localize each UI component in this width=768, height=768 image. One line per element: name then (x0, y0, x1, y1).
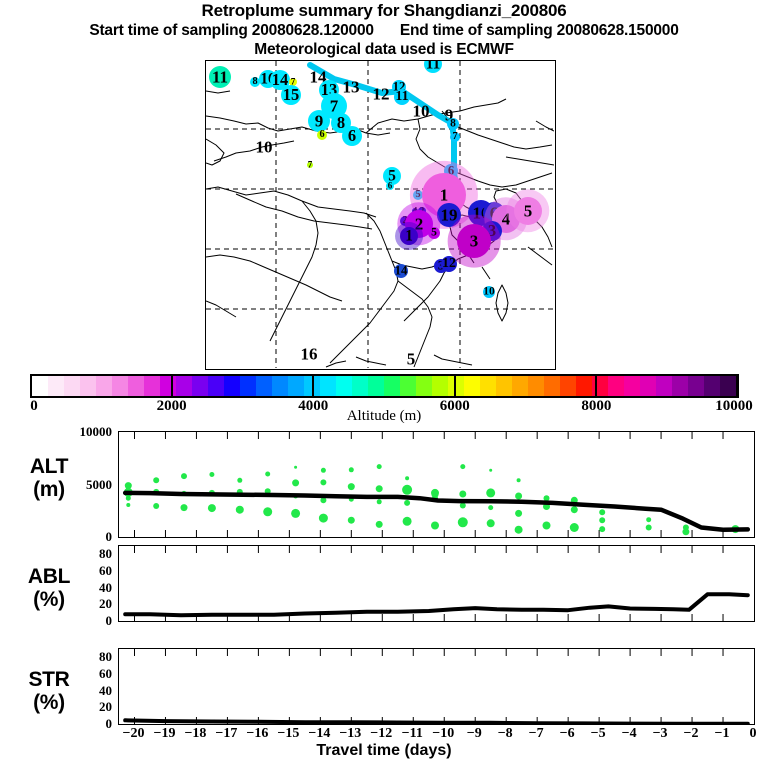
colorbar-swatch (176, 376, 192, 396)
colorbar-swatch (592, 376, 608, 396)
y-tick-label: 10000 (46, 424, 112, 440)
colorbar-swatch (464, 376, 480, 396)
x-tick-label: −5 (591, 726, 606, 742)
alt-scatter-point (320, 479, 326, 485)
alt-scatter-point (486, 488, 495, 497)
x-tick-label: −11 (402, 726, 423, 742)
y-tick-label: 60 (46, 666, 112, 682)
y-tick-label: 80 (46, 649, 112, 665)
colorbar-swatch (48, 376, 64, 396)
colorbar-swatch (656, 376, 672, 396)
colorbar-swatch (240, 376, 256, 396)
map-marker-label: 6 (319, 130, 324, 140)
map-marker-label: 3 (470, 233, 479, 250)
alt-scatter-point (291, 509, 300, 518)
alt-scatter-point (294, 466, 297, 469)
colorbar-swatch (624, 376, 640, 396)
retroplume-map: 1181614715141313121211117986610987107566… (205, 60, 556, 370)
alt-scatter-point (570, 523, 579, 532)
y-tick-label: 0 (46, 613, 112, 629)
map-marker-label: 8 (252, 77, 257, 87)
alt-scatter-point (488, 505, 493, 510)
x-tick-label: −12 (370, 726, 392, 742)
x-tick-label: −8 (498, 726, 513, 742)
alt-scatter-point (405, 476, 409, 480)
colorbar-swatch (576, 376, 592, 396)
start-time-label: Start time of sampling 20080628.120000 (89, 22, 373, 39)
str-plot (119, 649, 754, 724)
alt-scatter-point (237, 478, 242, 483)
abl-plot (119, 546, 754, 621)
y-tick-label: 60 (46, 563, 112, 579)
colorbar-swatch (64, 376, 80, 396)
map-marker-label: 10 (256, 139, 273, 156)
colorbar-swatch (352, 376, 368, 396)
map-marker-label: 11 (212, 69, 228, 86)
map-marker-label: 5 (407, 351, 416, 368)
x-tick-label: −18 (184, 726, 206, 742)
colorbar-swatch (528, 376, 544, 396)
alt-scatter-point (458, 517, 468, 527)
alt-scatter-point (263, 507, 272, 516)
colorbar-swatch (704, 376, 720, 396)
str-panel (118, 648, 755, 725)
colorbar-swatch (272, 376, 288, 396)
map-marker-label: 9 (315, 113, 324, 130)
alt-scatter-point (544, 495, 550, 501)
alt-scatter-point (377, 464, 382, 469)
colorbar-swatch (256, 376, 272, 396)
alt-scatter-point (515, 526, 523, 534)
x-tick-label: 0 (750, 726, 757, 742)
x-axis-title: Travel time (days) (0, 742, 768, 760)
alt-scatter-point (543, 522, 551, 530)
alt-scatter-point (599, 517, 605, 523)
colorbar-divider (737, 374, 739, 398)
colorbar-swatch (432, 376, 448, 396)
colorbar-title: Altitude (m) (0, 408, 768, 425)
colorbar-swatch (496, 376, 512, 396)
alt-plot (119, 432, 754, 537)
x-tick-label: −19 (153, 726, 175, 742)
alt-scatter-point (126, 496, 131, 501)
altitude-colorbar: 0200040006000800010000 (30, 374, 738, 398)
x-tick-label: −1 (715, 726, 730, 742)
alt-panel (118, 431, 755, 538)
colorbar-swatch (96, 376, 112, 396)
alt-scatter-point (348, 517, 355, 524)
alt-scatter-point (646, 525, 652, 531)
abl-panel (118, 545, 755, 622)
alt-scatter-point (209, 472, 214, 477)
colorbar-swatch (384, 376, 400, 396)
colorbar-divider (171, 374, 173, 398)
map-marker-label: 11 (395, 90, 408, 104)
alt-scatter-point (292, 479, 299, 486)
colorbar-swatch (672, 376, 688, 396)
alt-scatter-point (126, 503, 130, 507)
colorbar-swatch (688, 376, 704, 396)
alt-scatter-point (515, 510, 522, 517)
map-marker-label: 7 (452, 132, 457, 142)
map-marker-label: 11 (426, 60, 440, 72)
map-marker-label: 12 (442, 257, 456, 271)
colorbar-swatch (224, 376, 240, 396)
x-tick-label: −7 (529, 726, 544, 742)
alt-scatter-point (599, 526, 605, 532)
alt-scatter-point (517, 478, 521, 482)
alt-scatter-point (181, 473, 187, 479)
map-marker-label: 14 (395, 265, 408, 278)
colorbar-swatch (720, 376, 736, 396)
x-tick-label: −15 (277, 726, 299, 742)
colorbar-swatch (480, 376, 496, 396)
x-tick-label: −13 (339, 726, 361, 742)
alt-scatter-point (208, 504, 216, 512)
map-marker-label: 10 (413, 103, 430, 120)
y-tick-label: 20 (46, 596, 112, 612)
x-tick-label: −4 (622, 726, 637, 742)
x-tick-label: −6 (560, 726, 575, 742)
x-tick-label: −17 (215, 726, 237, 742)
alt-scatter-point (153, 503, 159, 509)
colorbar-swatch (640, 376, 656, 396)
colorbar-swatch (448, 376, 464, 396)
y-tick-label: 20 (46, 699, 112, 715)
alt-scatter-point (402, 485, 412, 495)
colorbar-gradient (30, 374, 738, 398)
alt-scatter-point (181, 504, 188, 511)
x-tick-label: −14 (308, 726, 330, 742)
map-marker-label: 10 (483, 286, 495, 298)
colorbar-swatch (368, 376, 384, 396)
sampling-time-line: Start time of sampling 20080628.120000En… (0, 21, 768, 40)
map-marker-label: 8 (450, 118, 456, 130)
map-marker-label: 13 (343, 79, 360, 96)
alt-scatter-point (377, 499, 382, 504)
colorbar-swatch (320, 376, 336, 396)
alt-scatter-point (319, 514, 328, 523)
alt-scatter-point (265, 472, 270, 477)
alt-scatter-point (682, 528, 689, 535)
alt-scatter-point (349, 467, 354, 472)
y-tick-label: 40 (46, 580, 112, 596)
alt-scatter-point (460, 464, 465, 469)
colorbar-swatch (400, 376, 416, 396)
y-tick-label: 0 (46, 529, 112, 545)
page-title: Retroplume summary for Shangdianzi_20080… (0, 0, 768, 21)
alt-scatter-point (376, 485, 383, 492)
map-marker-label: 6 (348, 128, 356, 145)
x-tick-label: −3 (653, 726, 668, 742)
colorbar-swatch (336, 376, 352, 396)
y-tick-label: 5000 (46, 477, 112, 493)
colorbar-swatch (560, 376, 576, 396)
colorbar-swatch (512, 376, 528, 396)
colorbar-swatch (608, 376, 624, 396)
map-marker-label: 15 (283, 87, 300, 104)
colorbar-divider (595, 374, 597, 398)
colorbar-swatch (544, 376, 560, 396)
map-marker-label: 5 (524, 203, 533, 220)
colorbar-swatch (288, 376, 304, 396)
colorbar-swatch (160, 376, 176, 396)
y-tick-label: 0 (46, 716, 112, 732)
title-block: Retroplume summary for Shangdianzi_20080… (0, 0, 768, 59)
colorbar-swatch (112, 376, 128, 396)
map-marker-label: 7 (308, 161, 313, 170)
map-marker-label: 1 (405, 228, 413, 243)
alt-scatter-point (459, 491, 466, 498)
colorbar-swatch (128, 376, 144, 396)
x-tick-label: −2 (684, 726, 699, 742)
x-tick-label: −9 (467, 726, 482, 742)
alt-scatter-point (376, 521, 383, 528)
map-marker-label: 6 (388, 182, 393, 191)
meteo-label: Meteorological data used is ECMWF (0, 40, 768, 59)
y-tick-label: 40 (46, 683, 112, 699)
alt-scatter-point (460, 503, 466, 509)
colorbar-divider (454, 374, 456, 398)
colorbar-swatch (416, 376, 432, 396)
alt-scatter-point (515, 493, 522, 500)
colorbar-swatch (192, 376, 208, 396)
alt-scatter-point (236, 506, 244, 514)
colorbar-swatch (144, 376, 160, 396)
colorbar-swatch (80, 376, 96, 396)
colorbar-divider (312, 374, 314, 398)
colorbar-swatch (32, 376, 48, 396)
alt-scatter-point (404, 500, 410, 506)
x-tick-label: −16 (246, 726, 268, 742)
map-marker-label: 12 (373, 86, 390, 103)
alt-scatter-point (489, 469, 492, 472)
x-tick-label: −20 (122, 726, 144, 742)
alt-scatter-point (321, 468, 326, 473)
colorbar-swatch (208, 376, 224, 396)
alt-scatter-point (348, 483, 355, 490)
x-tick-label: −10 (432, 726, 454, 742)
alt-scatter-point (487, 519, 495, 527)
map-marker-label: 16 (301, 346, 318, 363)
str-line (125, 720, 748, 724)
alt-scatter-point (431, 522, 439, 530)
map-marker-label: 5 (431, 227, 437, 239)
end-time-label: End time of sampling 20080628.150000 (400, 22, 679, 39)
alt-scatter-point (599, 509, 605, 515)
y-tick-label: 80 (46, 546, 112, 562)
alt-scatter-point (646, 517, 651, 522)
abl-line (125, 594, 748, 615)
map-marker-label: 1 (440, 187, 449, 204)
alt-scatter-point (153, 477, 159, 483)
alt-scatter-point (403, 517, 412, 526)
alt-scatter-point (571, 506, 578, 513)
